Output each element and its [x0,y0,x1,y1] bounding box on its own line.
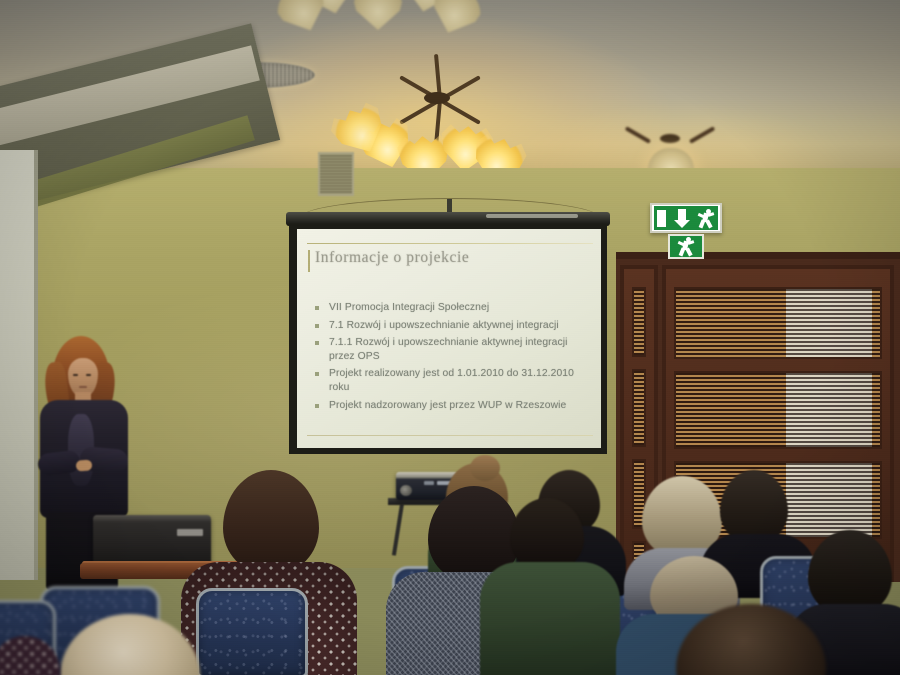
audience-hair-bun [470,455,500,481]
audience-head [720,470,788,544]
door-glass-pane [632,369,646,447]
slide-title: Informacje o projekcie [315,249,469,267]
door-glass-highlight [786,373,872,447]
slide-bullet-text: 7.1.1 Rozwój i upowszechnianie aktywnej … [329,337,568,362]
conference-room-photo: Informacje o projekcie VII Promocja Inte… [0,0,900,675]
slide-bullet-text: VII Promocja Integracji Społecznej [329,302,489,313]
slide-title-accent [308,250,310,272]
presenter-mouth [79,386,87,388]
chandelier-hub [660,134,680,143]
slide-bullet-text: Projekt nadzorowany jest przez WUP w Rze… [329,400,566,411]
door-glass-pane [674,287,882,359]
audience-member [496,498,606,675]
slide-bullet-item: Projekt realizowany jest od 1.01.2010 do… [315,367,591,394]
audience-member [676,604,826,675]
laptop[interactable] [93,515,211,567]
slide-bullet-text: Projekt realizowany jest od 1.01.2010 do… [329,368,574,393]
bullet-square-icon [315,372,319,376]
audience-shoulders [480,562,620,675]
wall-vent-grille-icon [318,152,354,196]
presenter-eye [73,374,78,376]
emergency-exit-sign-secondary [668,234,704,259]
door-glass-highlight [786,289,872,357]
chandelier-main [340,88,540,178]
slide-bullet-list: VII Promocja Integracji Społecznej 7.1 R… [315,301,591,416]
slide-divider-top [307,243,593,244]
audience-member [0,636,60,675]
slide-divider-bottom [307,435,593,436]
presenter-hand [76,459,93,471]
door-glass-pane [674,371,882,449]
audience-head [223,470,319,574]
screen-surface: Informacje o projekcie VII Promocja Inte… [289,224,607,454]
slide-bullet-item: 7.1.1 Rozwój i upowszechnianie aktywnej … [315,336,591,363]
bullet-square-icon [315,306,319,310]
chandelier-hub [424,92,450,104]
laptop-logo [177,529,203,536]
slide-bullet-item: Projekt nadzorowany jest przez WUP w Rze… [315,399,591,413]
audience-shoulders [0,636,60,675]
audience-member [60,614,200,675]
bullet-square-icon [315,324,319,328]
audience-head [510,498,584,572]
running-person-icon [678,237,695,256]
exit-sign-panel [654,206,718,230]
slide-bullet-text: 7.1 Rozwój i upowszechnianie aktywnej in… [329,320,559,331]
exit-door-icon [657,210,666,227]
slide-bullet-item: VII Promocja Integracji Społecznej [315,301,591,315]
running-person-icon [698,209,715,228]
lamp-petal [352,0,404,30]
slide-bullet-item: 7.1 Rozwój i upowszechnianie aktywnej in… [315,319,591,333]
chandelier-upper [290,0,470,52]
projection-screen: Informacje o projekcie VII Promocja Inte… [286,206,610,456]
door-glass-highlight [786,463,872,537]
audience-head [676,604,826,675]
chair-back [196,588,308,675]
emergency-exit-sign [650,203,722,233]
door-glass-pane [632,287,646,357]
audience-head [60,614,200,675]
presenter-eye [86,374,91,376]
chair[interactable] [196,588,308,675]
screen-bar-highlight [486,214,578,218]
bullet-square-icon [315,341,319,345]
bullet-square-icon [315,404,319,408]
presentation-slide: Informacje o projekcie VII Promocja Inte… [297,229,601,448]
projector-vent [424,481,434,485]
